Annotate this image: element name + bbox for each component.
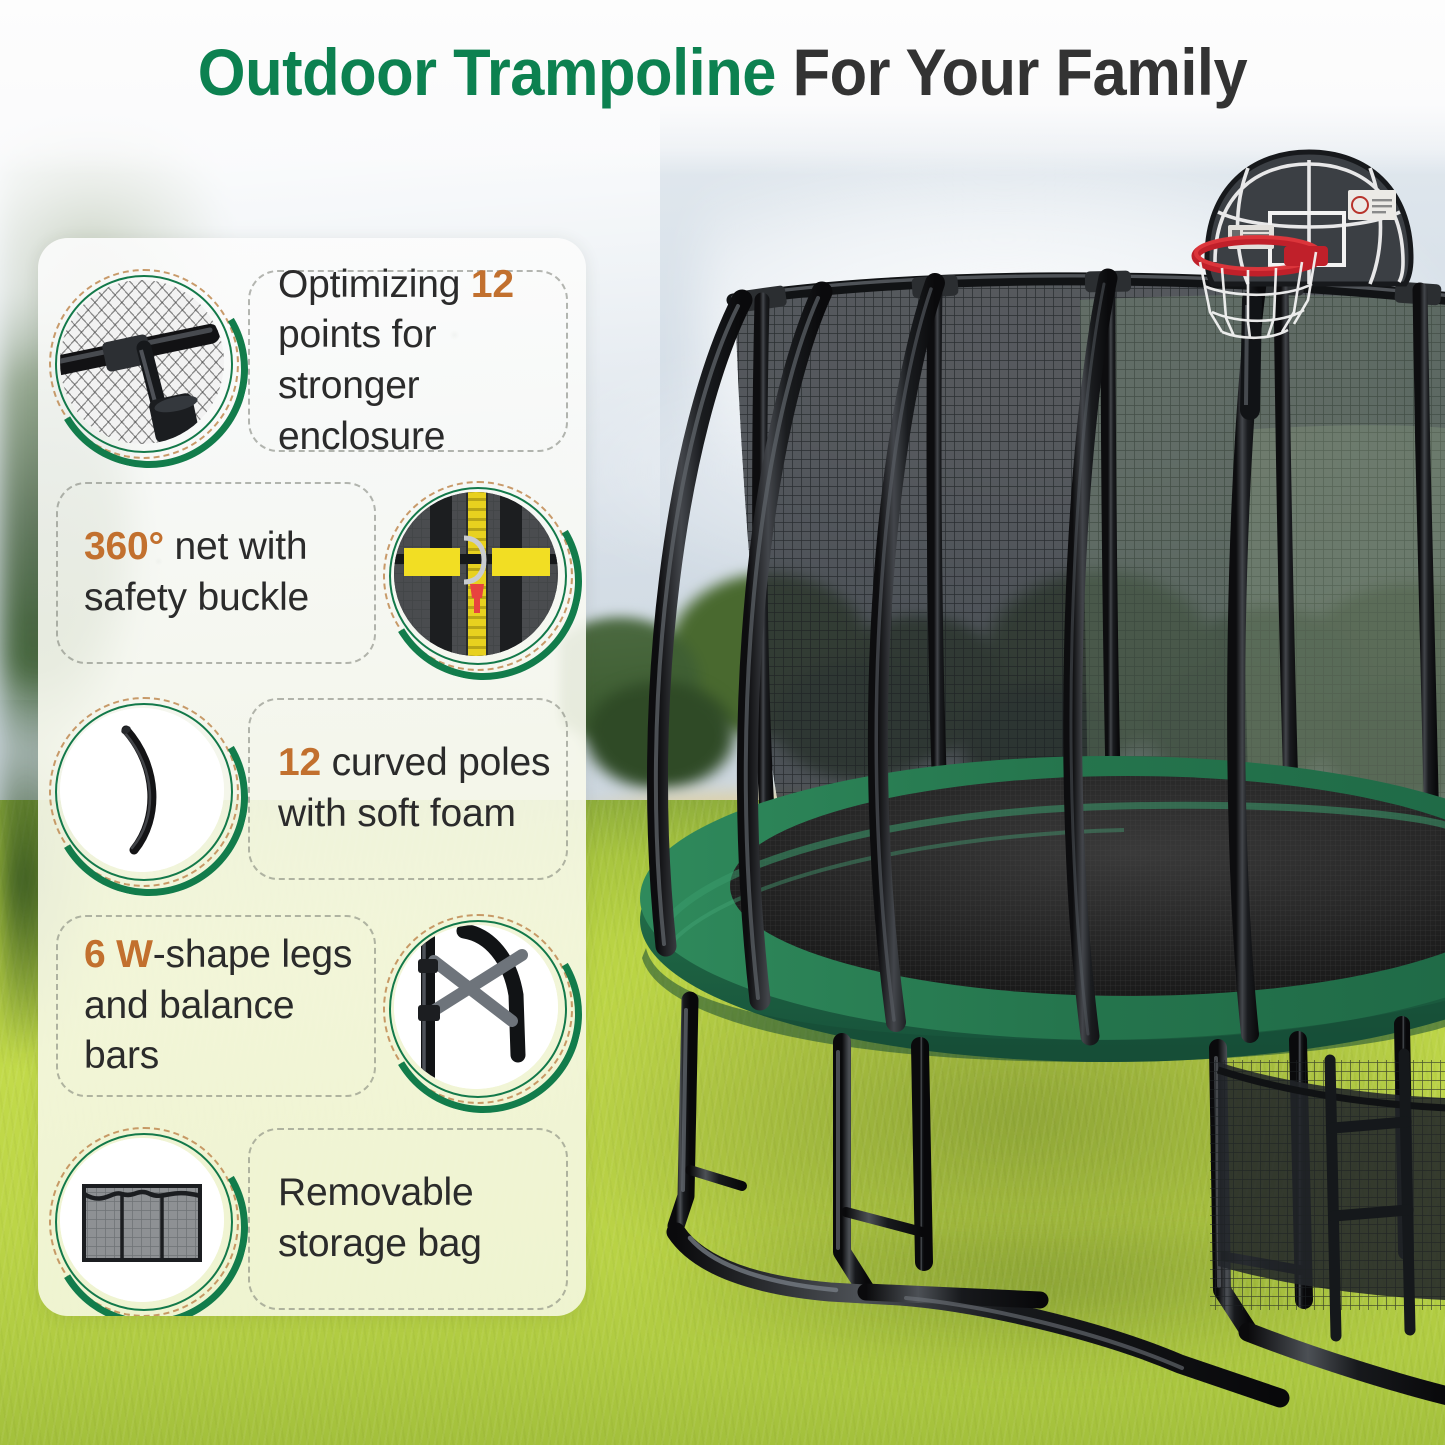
feature-text: 360° net with safety buckle	[84, 522, 356, 623]
text-highlight: 6 W	[84, 933, 153, 976]
product-infographic: Outdoor Trampoline For Your Family	[0, 0, 1445, 1445]
feature-text-card: 12 curved poles with soft foam	[248, 698, 568, 880]
feature-text-card: 360° net with safety buckle	[56, 482, 376, 664]
feature-item: Removable storage bag	[38, 1116, 586, 1316]
storage-bag-icon	[56, 1134, 228, 1306]
net-pole-connector-icon	[56, 276, 228, 448]
text-rest: Removable storage bag	[278, 1171, 482, 1265]
badge-photo	[60, 280, 224, 444]
badge-photo	[394, 492, 558, 656]
zipper-safety-buckle-icon	[390, 488, 562, 660]
feature-text: 12 curved poles with soft foam	[278, 738, 560, 839]
text-lead: Optimizing	[278, 263, 471, 306]
badge-photo	[60, 708, 224, 872]
text-highlight: 360°	[84, 525, 164, 568]
badge-photo	[60, 1138, 224, 1302]
text-rest: points for stronger enclosure	[278, 313, 445, 457]
feature-item: 360° net with safety buckle	[38, 470, 586, 675]
feature-text-card: Removable storage bag	[248, 1128, 568, 1310]
feature-text: 6 W-shape legs and balance bars	[84, 930, 356, 1082]
w-shape-leg-icon	[390, 921, 562, 1093]
feature-text-card: 6 W-shape legs and balance bars	[56, 915, 376, 1097]
feature-item: Optimizing 12 points for stronger enclos…	[38, 258, 586, 463]
feature-text-card: Optimizing 12 points for stronger enclos…	[248, 270, 568, 452]
page-title: Outdoor Trampoline For Your Family	[51, 34, 1395, 110]
text-highlight: 12	[278, 741, 321, 784]
feature-item: 6 W-shape legs and balance bars	[38, 903, 586, 1108]
feature-item: 12 curved poles with soft foam	[38, 686, 586, 891]
feature-text: Removable storage bag	[278, 1168, 560, 1269]
title-green-part: Outdoor Trampoline	[198, 35, 776, 109]
title-dark-part: For Your Family	[776, 35, 1247, 109]
feature-panel: Optimizing 12 points for stronger enclos…	[38, 238, 586, 1316]
badge-photo	[394, 925, 558, 1089]
curved-pole-icon	[56, 704, 228, 876]
text-highlight: 12	[471, 263, 514, 306]
feature-text: Optimizing 12 points for stronger enclos…	[278, 260, 560, 463]
